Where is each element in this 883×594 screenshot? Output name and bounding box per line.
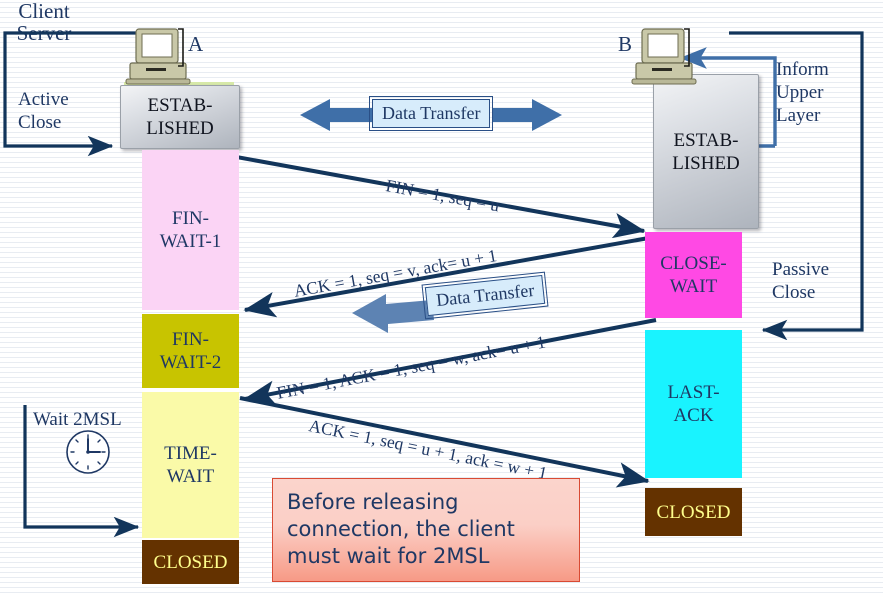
server-computer-icon — [632, 29, 696, 84]
client-computer-icon — [126, 29, 190, 84]
clock-icon — [67, 431, 109, 473]
client-letter: A — [188, 32, 203, 57]
callout-2msl-note: Before releasing connection, the client … — [272, 478, 580, 582]
callout-line-2: connection, the client — [287, 516, 565, 543]
tcp-termination-diagram: Client A Server B ESTAB- LISHED FIN- WAI… — [0, 0, 883, 594]
server-letter: B — [618, 32, 632, 57]
callout-line-1: Before releasing — [287, 489, 565, 516]
callout-line-3: must wait for 2MSL — [287, 543, 565, 570]
